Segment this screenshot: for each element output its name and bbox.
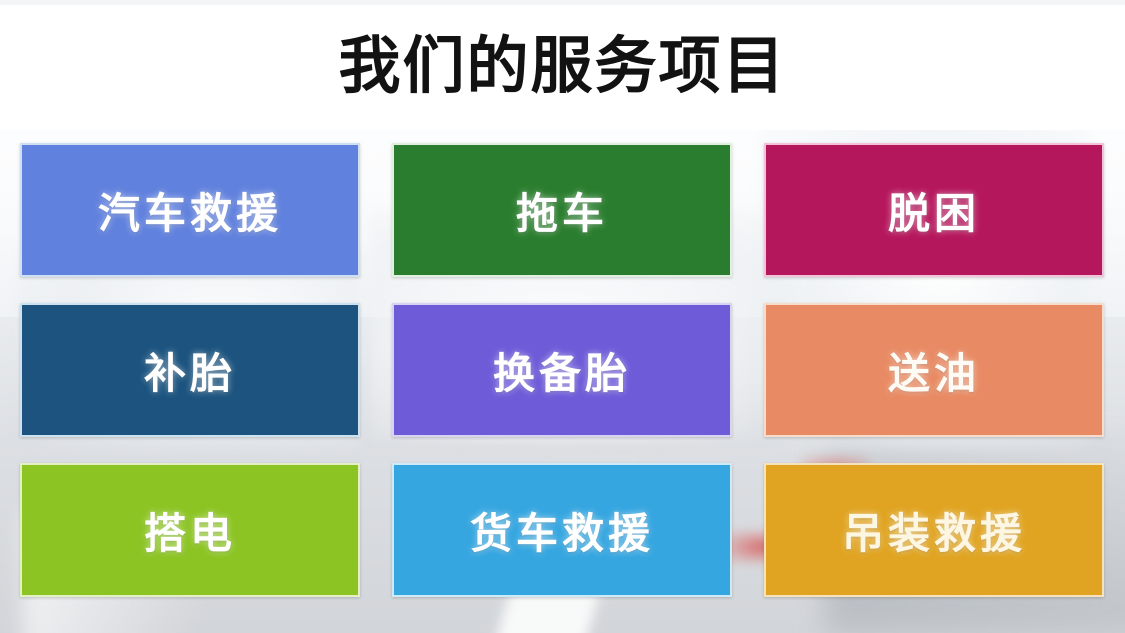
service-tile-spare-tire-change[interactable]: 换备胎 xyxy=(392,303,732,437)
service-tile-label: 拖车 xyxy=(516,180,608,241)
service-tile-car-rescue[interactable]: 汽车救援 xyxy=(20,143,360,277)
service-tile-label: 汽车救援 xyxy=(98,180,282,241)
service-grid: 汽车救援 拖车 脱困 补胎 换备胎 送油 搭电 货车救援 吊装救援 xyxy=(20,143,1105,597)
service-tile-truck-rescue[interactable]: 货车救援 xyxy=(392,463,732,597)
service-tile-label: 送油 xyxy=(888,340,980,401)
service-tile-fuel-delivery[interactable]: 送油 xyxy=(764,303,1104,437)
service-tile-label: 货车救援 xyxy=(470,500,654,561)
service-tile-tire-repair[interactable]: 补胎 xyxy=(20,303,360,437)
page-title: 我们的服务项目 xyxy=(338,36,786,98)
service-tile-label: 吊装救援 xyxy=(842,500,1026,561)
service-tile-label: 换备胎 xyxy=(493,340,631,401)
title-bar: 我们的服务项目 xyxy=(0,0,1125,128)
service-poster: 我们的服务项目 汽车救援 拖车 脱困 补胎 换备胎 送油 搭电 货车救援 吊装救… xyxy=(0,0,1125,633)
service-tile-crane-rescue[interactable]: 吊装救援 xyxy=(764,463,1104,597)
service-tile-extrication[interactable]: 脱困 xyxy=(764,143,1104,277)
service-tile-label: 脱困 xyxy=(888,180,980,241)
service-tile-towing[interactable]: 拖车 xyxy=(392,143,732,277)
service-tile-jump-start[interactable]: 搭电 xyxy=(20,463,360,597)
service-tile-label: 搭电 xyxy=(144,500,236,561)
service-tile-label: 补胎 xyxy=(144,340,236,401)
